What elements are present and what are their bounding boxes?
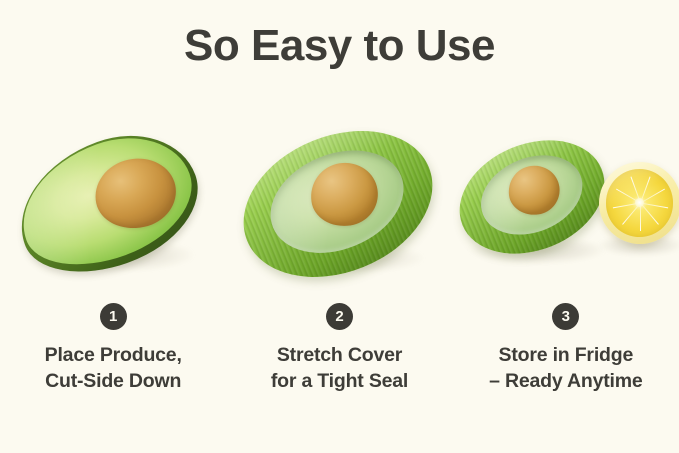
step-caption-line-2: for a Tight Seal xyxy=(271,369,408,395)
step-number-badge: 1 xyxy=(100,303,127,330)
step-3: 3 Store in Fridge – Ready Anytime xyxy=(453,130,679,430)
step-caption: Stretch Cover for a Tight Seal xyxy=(271,343,408,395)
step-caption-line-1: Stretch Cover xyxy=(277,344,402,366)
silicone-cover-on-avocado-icon xyxy=(222,104,455,304)
step-number-badge: 2 xyxy=(326,303,353,330)
avocado-half-icon xyxy=(0,114,215,293)
steps-row: 1 Place Produce, Cut-Side Down 2 xyxy=(0,130,679,430)
step-1-artwork xyxy=(0,130,226,285)
lemon-highlight xyxy=(599,162,679,244)
step-caption-line-2: – Ready Anytime xyxy=(489,369,642,395)
step-caption: Store in Fridge – Ready Anytime xyxy=(489,343,642,395)
step-2: 2 Stretch Cover for a Tight Seal xyxy=(226,130,452,430)
step-number-badge: 3 xyxy=(552,303,579,330)
infographic-page: So Easy to Use 1 Place Produce, Cut-Side… xyxy=(0,0,679,453)
step-caption-line-1: Place Produce, xyxy=(45,344,182,366)
step-caption-line-1: Store in Fridge xyxy=(499,344,634,366)
step-1: 1 Place Produce, Cut-Side Down xyxy=(0,130,226,430)
step-caption-line-2: Cut-Side Down xyxy=(45,369,182,395)
step-3-artwork xyxy=(453,130,679,285)
lemon-half-icon xyxy=(599,162,679,244)
step-2-artwork xyxy=(226,130,452,285)
step-caption: Place Produce, Cut-Side Down xyxy=(45,343,182,395)
page-title: So Easy to Use xyxy=(0,24,679,68)
